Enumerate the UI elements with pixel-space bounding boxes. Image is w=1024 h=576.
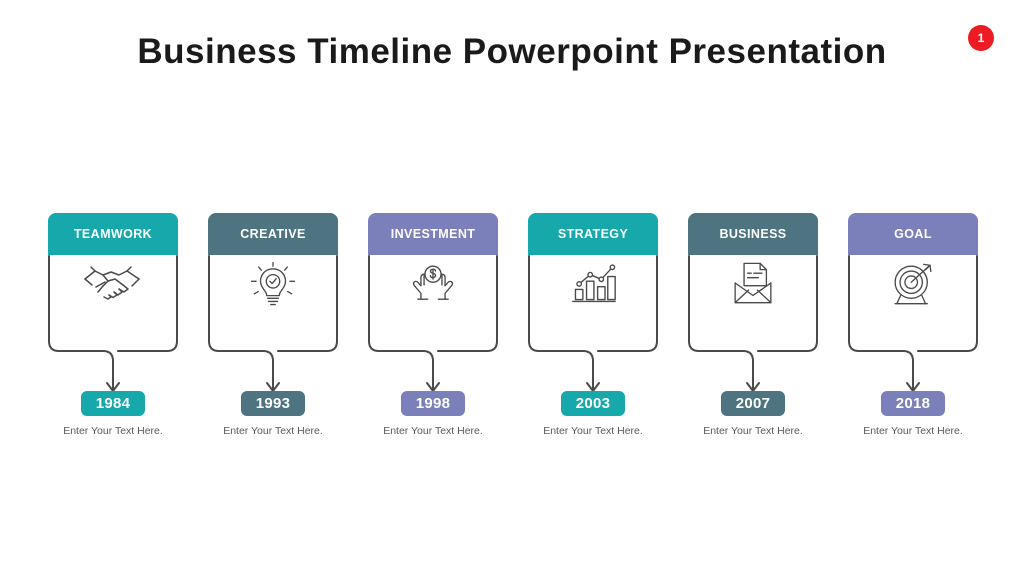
year-badge-label: 2018 [896,396,931,411]
year-badge[interactable]: 1993 [241,391,305,416]
year-badge[interactable]: 1984 [81,391,145,416]
timeline-card: BUSINESS 2007Enter Your Text Here. [688,213,818,453]
notification-badge[interactable]: 1 [968,25,994,51]
timeline-card: STRATEGY 2003Enter Your Text Here. [528,213,658,453]
card-frame-arrow [208,255,338,407]
card-header-label: INVESTMENT [391,227,476,241]
timeline-card: TEAMWORK 1984Enter Your Text Here. [48,213,178,453]
year-badge-label: 1993 [256,396,291,411]
year-badge-label: 2003 [576,396,611,411]
card-header[interactable]: BUSINESS [688,213,818,255]
year-badge-label: 1984 [96,396,131,411]
card-caption[interactable]: Enter Your Text Here. [512,425,674,437]
year-badge[interactable]: 2018 [881,391,945,416]
card-header[interactable]: STRATEGY [528,213,658,255]
card-frame-arrow [368,255,498,407]
card-header-label: BUSINESS [719,227,786,241]
card-header-label: CREATIVE [240,227,305,241]
timeline-card: CREATIVE 1993Enter Your Text Here. [208,213,338,453]
card-caption[interactable]: Enter Your Text Here. [832,425,994,437]
page-title: Business Timeline Powerpoint Presentatio… [0,32,1024,72]
card-frame-arrow [48,255,178,407]
card-header-label: TEAMWORK [74,227,152,241]
year-badge-label: 2007 [736,396,771,411]
year-badge[interactable]: 2007 [721,391,785,416]
card-header[interactable]: TEAMWORK [48,213,178,255]
card-frame-arrow [528,255,658,407]
card-frame-arrow [848,255,978,407]
card-header-label: GOAL [894,227,932,241]
year-badge-label: 1998 [416,396,451,411]
year-badge[interactable]: 2003 [561,391,625,416]
card-caption[interactable]: Enter Your Text Here. [672,425,834,437]
timeline-card: GOAL 2018Enter Your Text Here. [848,213,978,453]
year-badge[interactable]: 1998 [401,391,465,416]
timeline-card: INVESTMENT 1998Enter Your Text Here. [368,213,498,453]
card-caption[interactable]: Enter Your Text Here. [352,425,514,437]
notification-badge-label: 1 [978,32,985,44]
card-header[interactable]: CREATIVE [208,213,338,255]
card-header[interactable]: INVESTMENT [368,213,498,255]
card-frame-arrow [688,255,818,407]
card-caption[interactable]: Enter Your Text Here. [192,425,354,437]
card-header-label: STRATEGY [558,227,628,241]
card-header[interactable]: GOAL [848,213,978,255]
timeline-container: TEAMWORK 1984Enter Your Text Here.CREATI… [48,213,978,453]
card-caption[interactable]: Enter Your Text Here. [32,425,194,437]
